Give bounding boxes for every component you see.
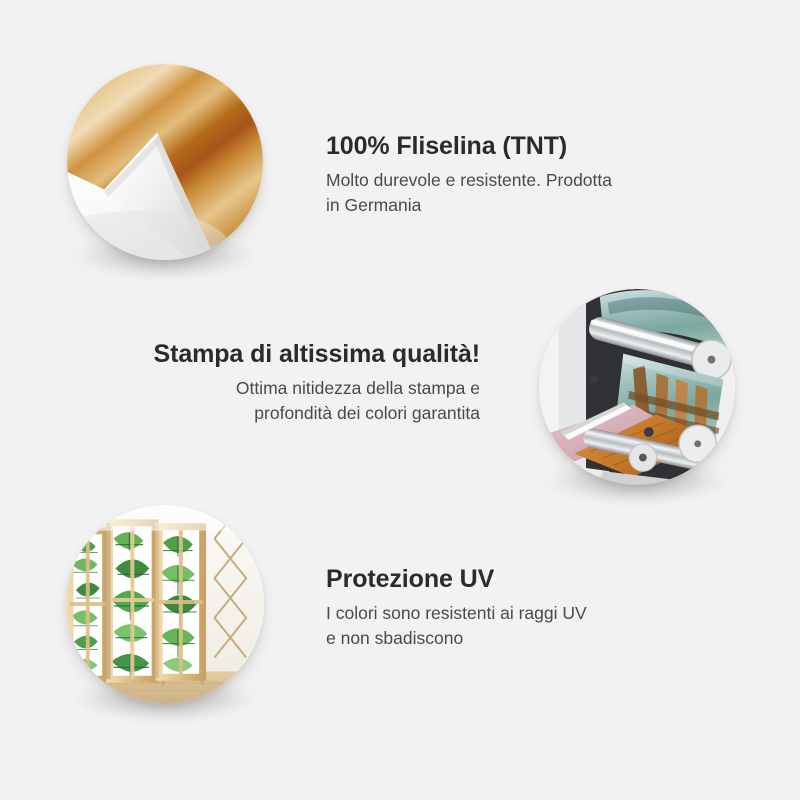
feature-title-stampa: Stampa di altissima qualità! [60, 341, 480, 367]
feature-description-line: Molto durevole e resistente. Prodotta [326, 170, 612, 190]
feature-description-stampa: Ottima nitidezza della stampa e profondi… [60, 376, 480, 426]
feature-image-tropical-room-divider-photo [66, 505, 264, 703]
feature-description-line: Ottima nitidezza della stampa e [236, 378, 480, 398]
large-format-printer-illustration [539, 289, 735, 485]
feature-description-uv: I colori sono resistenti ai raggi UV e n… [326, 601, 726, 651]
feature-text-uv: Protezione UV I colori sono resistenti a… [326, 566, 726, 651]
wallpaper-peeled-corner-illustration [67, 64, 263, 260]
feature-title-uv: Protezione UV [326, 566, 726, 592]
feature-description-fliselina: Molto durevole e resistente. Prodotta in… [326, 168, 726, 218]
tropical-room-divider-illustration [66, 505, 264, 703]
feature-description-line: in Germania [326, 195, 421, 215]
feature-image-large-format-printer-photo [539, 289, 735, 485]
feature-description-line: e non sbadiscono [326, 628, 463, 648]
feature-text-stampa: Stampa di altissima qualità! Ottima niti… [60, 341, 480, 426]
feature-image-wallpaper-peeled-corner-photo [67, 64, 263, 260]
feature-description-line: profondità dei colori garantita [254, 403, 480, 423]
promo-features-panel: 100% Fliselina (TNT) Molto durevole e re… [0, 0, 800, 800]
feature-title-fliselina: 100% Fliselina (TNT) [326, 133, 726, 159]
feature-text-fliselina: 100% Fliselina (TNT) Molto durevole e re… [326, 133, 726, 218]
feature-description-line: I colori sono resistenti ai raggi UV [326, 603, 587, 623]
